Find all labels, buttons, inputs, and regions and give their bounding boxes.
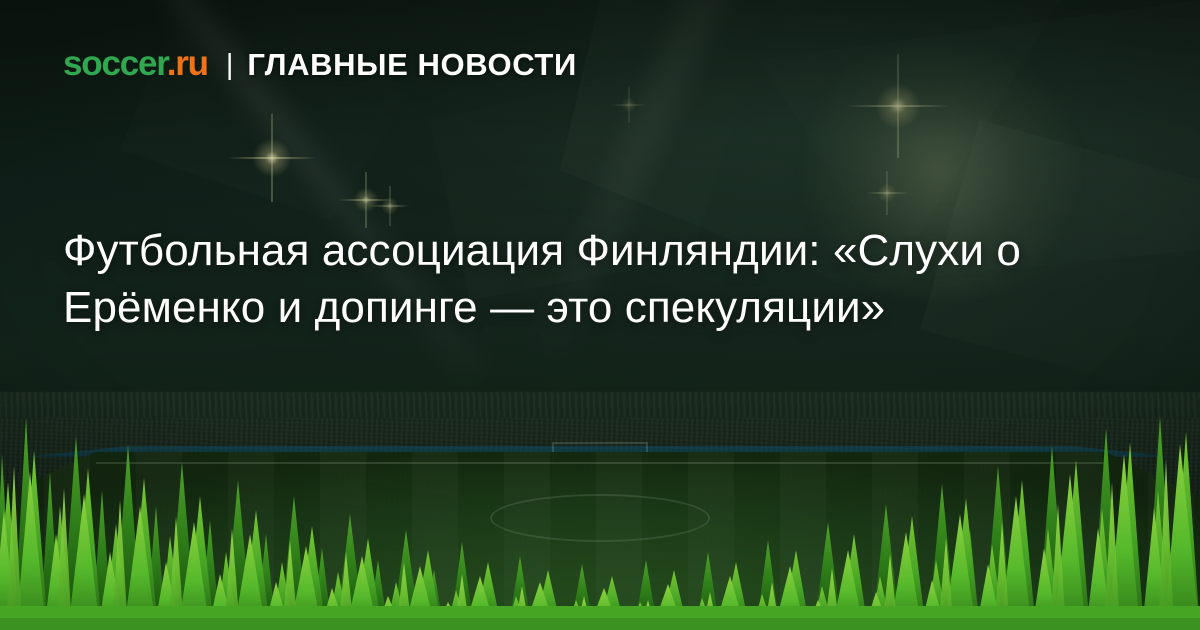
brand-header: soccer.ru | ГЛАВНЫЕ НОВОСТИ <box>63 46 577 81</box>
logo-tld-part: .ru <box>167 44 208 83</box>
header-kicker: ГЛАВНЫЕ НОВОСТИ <box>247 49 576 80</box>
article-headline: Футбольная ассоциация Финляндии: «Слухи … <box>63 222 1148 336</box>
header-separator: | <box>226 51 234 80</box>
site-logo[interactable]: soccer.ru <box>63 46 208 81</box>
share-card: soccer.ru | ГЛАВНЫЕ НОВОСТИ Футбольная а… <box>0 0 1200 630</box>
logo-name-part: soccer <box>63 44 167 83</box>
